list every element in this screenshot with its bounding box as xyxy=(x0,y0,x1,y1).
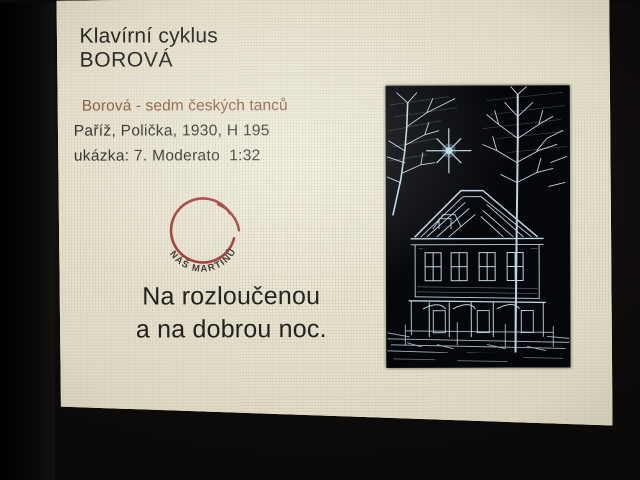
scratchboard-house-illustration xyxy=(386,85,571,367)
work-audio-excerpt: ukázka: 7. Moderato 1:32 xyxy=(74,147,288,166)
presentation-slide: Klavírní cyklus BOROVÁ Borová - sedm čes… xyxy=(55,0,612,437)
page-title-line-1: Klavírní cyklus xyxy=(80,24,218,48)
closing-line-1: Na rozloučenou xyxy=(86,280,376,314)
work-subtitle: Borová - sedm českých tanců xyxy=(74,97,288,116)
closing-message-block: Na rozloučenou a na dobrou noc. xyxy=(86,280,376,347)
slide-title-block: Klavírní cyklus BOROVÁ xyxy=(80,24,218,71)
slide-metadata-block: Borová - sedm českých tanců Paříž, Polič… xyxy=(74,97,288,166)
work-place-and-year: Paříž, Polička, 1930, H 195 xyxy=(74,122,288,141)
nas-martinu-logo: NÁŠ MARTINŮ xyxy=(156,192,248,278)
slide-content: Klavírní cyklus BOROVÁ Borová - sedm čes… xyxy=(55,0,612,437)
slide-wrapper: Klavírní cyklus BOROVÁ Borová - sedm čes… xyxy=(0,0,640,480)
projected-slide-photo: Klavírní cyklus BOROVÁ Borová - sedm čes… xyxy=(0,0,640,480)
closing-line-2: a na dobrou noc. xyxy=(86,313,376,347)
page-title-line-2: BOROVÁ xyxy=(80,48,218,72)
